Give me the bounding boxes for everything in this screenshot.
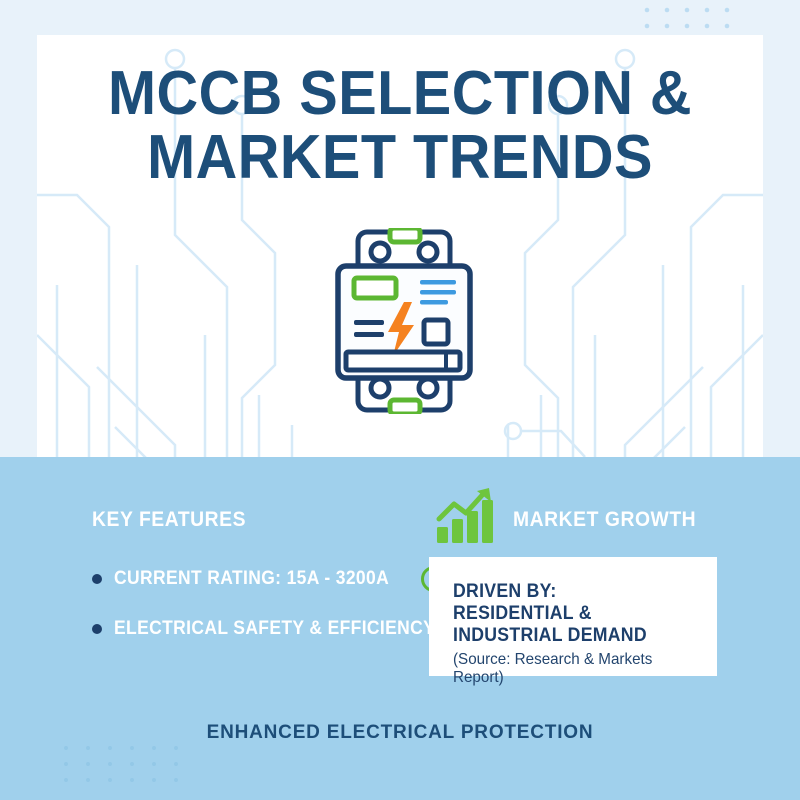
breaker-top-terminal bbox=[390, 228, 420, 242]
info-line-residential: RESIDENTIAL & bbox=[453, 603, 699, 625]
mccb-circuit-breaker-icon bbox=[332, 228, 476, 414]
title-line-1: MCCB SELECTION & bbox=[62, 62, 737, 126]
infographic-canvas: MCCB SELECTION & MARKET TRENDS bbox=[0, 0, 800, 800]
breaker-indicator-square bbox=[424, 320, 448, 344]
info-source-citation: (Source: Research & Markets Report) bbox=[453, 651, 704, 687]
feature-item-current-rating: CURRENT RATING: 15A - 3200A A bbox=[92, 566, 447, 592]
feature-item-safety-efficiency: ELECTRICAL SAFETY & EFFICIENCY bbox=[92, 618, 463, 640]
feature-label: CURRENT RATING: 15A - 3200A bbox=[114, 568, 389, 590]
footer-tagline: ENHANCED ELECTRICAL PROTECTION bbox=[0, 722, 800, 744]
bar-chart-growth-icon bbox=[435, 487, 497, 543]
market-growth-info-box: DRIVEN BY: RESIDENTIAL & INDUSTRIAL DEMA… bbox=[429, 557, 717, 676]
breaker-green-label bbox=[354, 278, 396, 298]
info-line-industrial: INDUSTRIAL DEMAND bbox=[453, 625, 699, 647]
title-line-2: MARKET TRENDS bbox=[62, 126, 737, 190]
breaker-bottom-terminal bbox=[390, 400, 420, 414]
key-features-heading: KEY FEATURES bbox=[92, 508, 246, 532]
dot-grid-bottom-left bbox=[62, 744, 202, 792]
market-growth-heading: MARKET GROWTH bbox=[513, 508, 696, 532]
feature-label: ELECTRICAL SAFETY & EFFICIENCY bbox=[114, 618, 435, 640]
bullet-icon bbox=[92, 624, 102, 634]
growth-arrow-line bbox=[439, 492, 485, 519]
breaker-slot-bar bbox=[346, 352, 460, 370]
bullet-icon bbox=[92, 574, 102, 584]
page-title: MCCB SELECTION & MARKET TRENDS bbox=[37, 62, 763, 190]
info-line-driven-by: DRIVEN BY: bbox=[453, 581, 699, 603]
